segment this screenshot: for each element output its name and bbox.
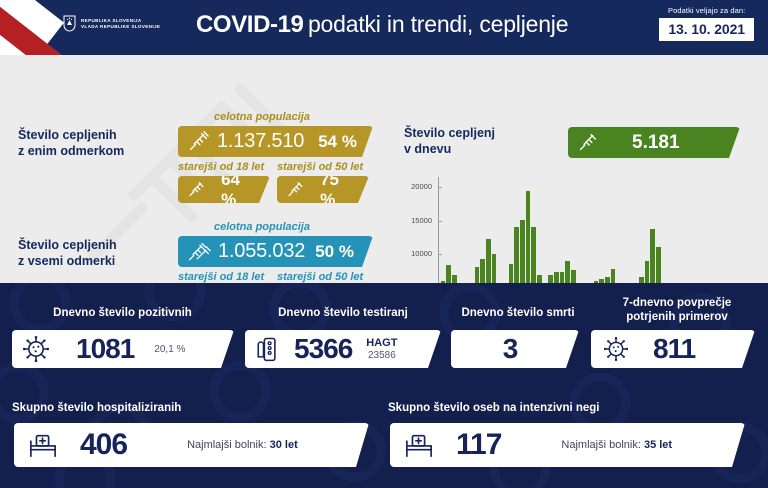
stat-value-deaths: 3 xyxy=(503,333,518,365)
daily-vaccination-value: 5.181 xyxy=(632,132,680,154)
page-header: REPUBLIKA SLOVENIJA VLADA REPUBLIKE SLOV… xyxy=(0,0,768,55)
full-dose-label-line1: Število cepljenih xyxy=(18,237,117,253)
infographic-page: REPUBLIKA SLOVENIJA VLADA REPUBLIKE SLOV… xyxy=(0,0,768,488)
chart-bar xyxy=(645,261,650,283)
virus-icon xyxy=(22,335,50,363)
chart-bar xyxy=(531,227,536,283)
chart-bar xyxy=(446,265,451,283)
virus-icon xyxy=(603,336,629,362)
full-dose-label-line2: z vsemi odmerki xyxy=(18,253,117,269)
chart-bar xyxy=(650,229,655,283)
chart-bar xyxy=(452,275,457,283)
chart-bar xyxy=(509,264,514,283)
stat-title-hospitalized-text: Skupno število hospitaliziranih xyxy=(12,402,181,414)
date-block: Podatki veljajo za dan: 13. 10. 2021 xyxy=(659,6,754,41)
stat-note-hospitalized-value: 30 let xyxy=(270,439,298,451)
stat-card-icu: 117 Najmlajši bolnik: 35 let xyxy=(390,423,745,467)
slovenia-coat-of-arms-icon xyxy=(63,15,76,32)
stat-extra-tests-label: HAGT xyxy=(366,337,397,350)
full-dose-total-pct: 50 % xyxy=(315,242,354,262)
stat-title-7day-avg: 7-dnevno povprečje potrjenih primerov xyxy=(592,297,762,325)
first-dose-sub2-pct: 75 % xyxy=(320,170,357,210)
date-value: 13. 10. 2021 xyxy=(659,18,754,41)
hospital-bed-icon xyxy=(28,431,58,459)
chart-bar xyxy=(554,272,559,283)
full-dose-total-pill: 1.055.032 50 % xyxy=(178,236,373,267)
first-dose-total-pct: 54 % xyxy=(318,132,357,152)
stat-title-hospitalized: Skupno število hospitaliziranih xyxy=(12,402,262,416)
syringe-icon xyxy=(187,131,209,153)
stat-extra-tests-value: 23586 xyxy=(366,350,397,362)
first-dose-sub1-pill: 64 % xyxy=(178,176,270,203)
first-dose-sub1-group: starejši od 18 let 64 % xyxy=(178,161,270,203)
stat-card-deaths: 3 xyxy=(451,330,579,368)
double-syringe-icon xyxy=(187,241,211,263)
vaccination-panel: Število cepljenih z enim odmerkom celotn… xyxy=(0,55,768,283)
first-dose-label: Število cepljenih z enim odmerkom xyxy=(18,127,124,159)
page-title-bold: COVID-19 xyxy=(196,11,304,38)
first-dose-total-group: celotna populacija 1.137.510 54 % xyxy=(178,111,373,157)
stat-note-icu: Najmlajši bolnik: 35 let xyxy=(561,439,672,451)
daily-vaccination-label-line1: Število cepljenj xyxy=(404,125,495,141)
chart-bar xyxy=(565,261,570,283)
stat-extra-positive: 20,1 % xyxy=(154,344,185,355)
stat-value-hospitalized: 406 xyxy=(80,428,127,462)
stat-title-icu-text: Skupno število oseb na intenzivni negi xyxy=(388,402,600,414)
chart-bar xyxy=(526,191,531,283)
full-dose-total-group: celotna populacija 1.055.032 50 % xyxy=(178,221,373,267)
stat-title-positive: Dnevno število pozitivnih xyxy=(10,307,235,321)
first-dose-total-pill: 1.137.510 54 % xyxy=(178,126,373,157)
stat-extra-tests: HAGT 23586 xyxy=(366,337,397,361)
stat-title-deaths-line1: Dnevno število smrti xyxy=(461,307,574,319)
full-dose-label-group: Število cepljenih z vsemi odmerki xyxy=(18,237,117,269)
syringe-icon xyxy=(187,180,205,199)
date-label: Podatki veljajo za dan: xyxy=(659,6,754,15)
chart-y-tick-label: 15000 xyxy=(398,216,432,225)
chart-bar xyxy=(520,220,525,283)
stat-title-tests-line1: Dnevno število testiranj xyxy=(278,307,408,319)
first-dose-label-group: Število cepljenih z enim odmerkom xyxy=(18,127,124,159)
stat-title-7day-avg-line2: potrjenih primerov xyxy=(592,311,762,325)
first-dose-sub2-caption: starejši od 50 let xyxy=(277,161,369,173)
daily-vaccination-pill: 5.181 xyxy=(568,127,740,158)
stat-title-7day-avg-line1: 7-dnevno povprečje xyxy=(592,297,762,311)
hospital-bed-icon xyxy=(404,431,434,459)
chart-bar xyxy=(475,267,480,283)
stat-card-7day-avg: 811 xyxy=(591,330,755,368)
chart-bar xyxy=(537,275,542,283)
first-dose-label-line1: Število cepljenih xyxy=(18,127,124,143)
full-dose-sub1-caption: starejši od 18 let xyxy=(178,271,270,283)
stat-card-tests: 5366 HAGT 23586 xyxy=(245,330,441,368)
stat-title-positive-line1: Dnevno število pozitivnih xyxy=(53,307,192,319)
full-dose-sub2-group: starejši od 50 let 71 % xyxy=(277,271,369,283)
stat-card-hospitalized: 406 Najmlajši bolnik: 30 let xyxy=(14,423,369,467)
chart-bar xyxy=(514,227,519,283)
org-name-line2: VLADA REPUBLIKE SLOVENIJE xyxy=(81,24,160,30)
syringe-icon xyxy=(286,180,304,199)
first-dose-sub2-group: starejši od 50 let 75 % xyxy=(277,161,369,203)
daily-vaccination-chart: 05000100001500020000 xyxy=(396,173,762,283)
stat-title-tests: Dnevno število testiranj xyxy=(243,307,443,321)
chart-bars xyxy=(440,187,758,283)
first-dose-label-line2: z enim odmerkom xyxy=(18,143,124,159)
chart-y-tick-label: 20000 xyxy=(398,182,432,191)
chart-bar xyxy=(571,270,576,283)
stat-note-icu-value: 35 let xyxy=(644,439,672,451)
daily-vaccination-label: Število cepljenj v dnevu xyxy=(404,125,495,157)
chart-axis-vertical xyxy=(438,177,439,283)
stat-value-7day-avg: 811 xyxy=(653,333,695,365)
full-dose-sub1-group: starejši od 18 let 59 % xyxy=(178,271,270,283)
first-dose-sub1-caption: starejši od 18 let xyxy=(178,161,270,173)
chart-bar xyxy=(611,269,616,283)
chart-bar xyxy=(548,275,553,283)
government-logo: REPUBLIKA SLOVENIJA VLADA REPUBLIKE SLOV… xyxy=(63,15,160,32)
first-dose-total-value: 1.137.510 xyxy=(217,130,304,153)
chart-bar xyxy=(492,254,497,283)
first-dose-total-caption: celotna populacija xyxy=(214,111,373,123)
first-dose-sub2-pill: 75 % xyxy=(277,176,369,203)
chart-bar xyxy=(486,239,491,283)
full-dose-sub2-caption: starejši od 50 let xyxy=(277,271,369,283)
page-title-light: podatki in trendi, cepljenje xyxy=(308,11,568,37)
stat-note-icu-label: Najmlajši bolnik: xyxy=(561,439,640,451)
chart-y-tick-label: 10000 xyxy=(398,249,432,258)
syringe-icon xyxy=(577,132,598,153)
full-dose-total-caption: celotna populacija xyxy=(214,221,373,233)
full-dose-label: Število cepljenih z vsemi odmerki xyxy=(18,237,117,269)
stat-title-deaths: Dnevno število smrti xyxy=(448,307,588,321)
test-tube-icon xyxy=(254,335,280,363)
statistics-panel: Dnevno število pozitivnih Dnevno število… xyxy=(0,283,768,488)
daily-vaccination-label-line2: v dnevu xyxy=(404,141,495,157)
chart-bar xyxy=(560,272,565,283)
stat-title-icu: Skupno število oseb na intenzivni negi xyxy=(388,402,718,416)
chart-bar xyxy=(480,259,485,283)
page-title: COVID-19 podatki in trendi, cepljenje xyxy=(196,11,568,39)
full-dose-total-value: 1.055.032 xyxy=(218,240,305,263)
stat-card-positive: 1081 20,1 % xyxy=(12,330,234,368)
stat-note-hospitalized: Najmlajši bolnik: 30 let xyxy=(187,439,298,451)
stat-value-icu: 117 xyxy=(456,428,501,462)
stat-value-positive: 1081 xyxy=(76,333,134,365)
stat-value-tests: 5366 xyxy=(294,333,352,365)
stat-note-hospitalized-label: Najmlajši bolnik: xyxy=(187,439,266,451)
daily-vaccination-pill-wrap: 5.181 xyxy=(568,127,740,158)
chart-bar xyxy=(656,247,661,283)
